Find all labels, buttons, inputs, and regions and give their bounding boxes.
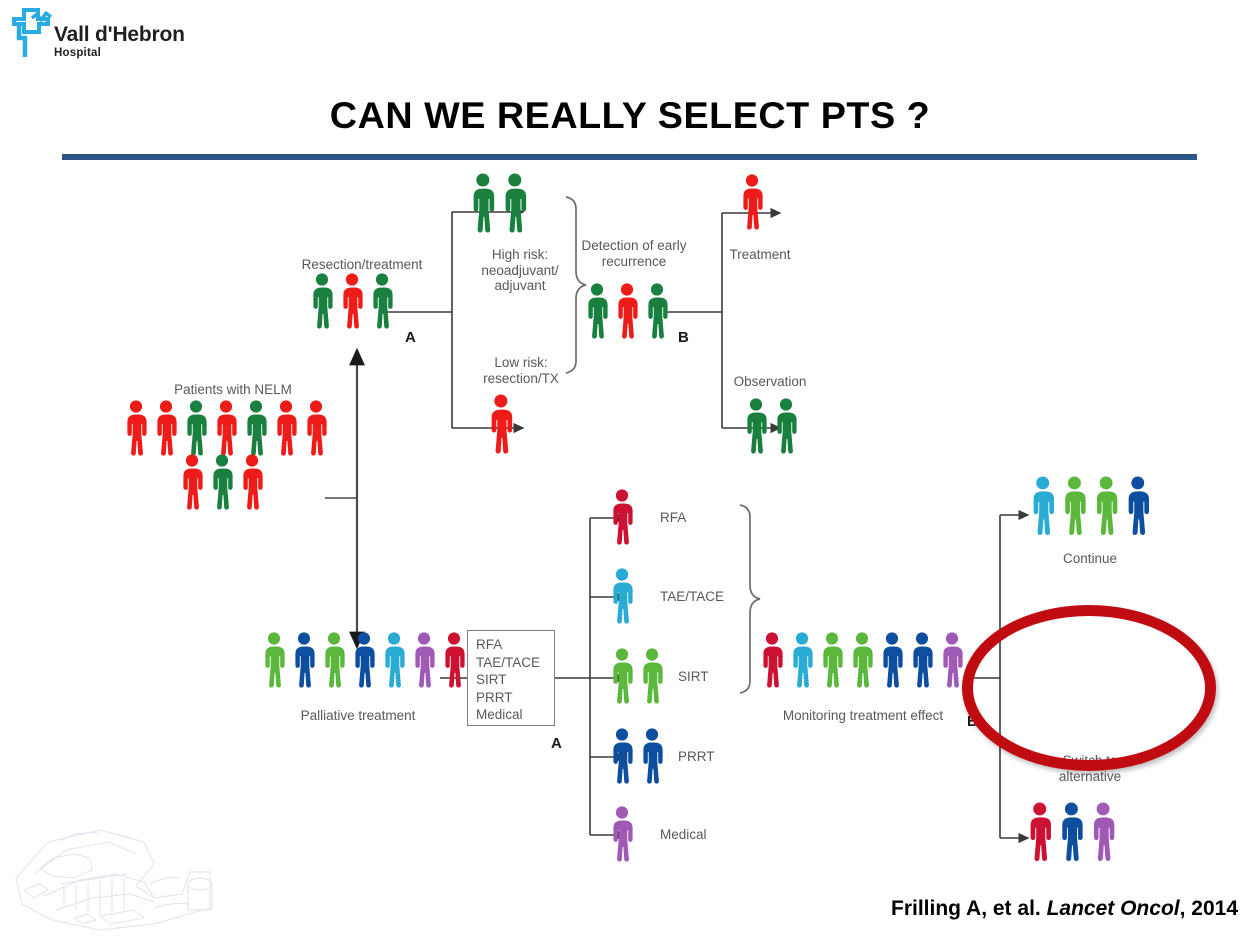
hospital-cross-pulse-icon bbox=[8, 8, 52, 60]
option-prrt: PRRT bbox=[476, 689, 554, 707]
branch-label-a-upper: A bbox=[405, 329, 416, 346]
person-pictogram bbox=[277, 400, 296, 455]
person-pictogram bbox=[307, 400, 326, 455]
person-pictogram bbox=[1062, 802, 1082, 861]
page-title: CAN WE REALLY SELECT PTS ? bbox=[0, 95, 1260, 137]
person-pictogram bbox=[247, 400, 266, 455]
person-pictogram bbox=[343, 273, 362, 328]
person-pictogram bbox=[823, 632, 842, 687]
label-tae-tace: TAE/TACE bbox=[660, 589, 750, 605]
label-detection-recurrence: Detection of early recurrence bbox=[559, 238, 709, 269]
label-sirt: SIRT bbox=[678, 669, 748, 685]
person-pictogram bbox=[1065, 476, 1085, 535]
branch-label-a-lower: A bbox=[551, 735, 562, 752]
person-pictogram bbox=[127, 400, 146, 455]
person-pictogram bbox=[325, 632, 344, 687]
label-rfa: RFA bbox=[660, 510, 730, 526]
person-pictogram bbox=[183, 454, 202, 509]
group-prrt bbox=[613, 728, 662, 783]
person-pictogram bbox=[157, 400, 176, 455]
person-pictogram bbox=[355, 632, 374, 687]
option-tae-tace: TAE/TACE bbox=[476, 654, 554, 672]
logo-sub-name: Hospital bbox=[54, 48, 101, 60]
person-pictogram bbox=[187, 400, 206, 455]
group-medical bbox=[613, 806, 632, 861]
person-pictogram bbox=[763, 632, 782, 687]
label-observation: Observation bbox=[705, 374, 835, 390]
group-rfa bbox=[613, 489, 632, 544]
group-continue bbox=[1034, 476, 1149, 535]
person-pictogram bbox=[265, 632, 284, 687]
highlight-ellipse-continue bbox=[962, 605, 1216, 771]
person-pictogram bbox=[1034, 476, 1054, 535]
label-continue: Continue bbox=[1020, 551, 1160, 567]
person-pictogram bbox=[643, 728, 662, 783]
flow-diagram: Patients with NELM Resection/treatment H… bbox=[0, 165, 1260, 885]
group-high-risk bbox=[474, 173, 527, 232]
hospital-logo: Vall d'Hebron Hospital bbox=[8, 8, 238, 68]
person-pictogram bbox=[777, 398, 796, 453]
person-pictogram bbox=[243, 454, 262, 509]
person-pictogram bbox=[445, 632, 464, 687]
treatment-options-box: RFA TAE/TACE SIRT PRRT Medical bbox=[467, 630, 555, 726]
citation-year: , 2014 bbox=[1180, 897, 1238, 920]
title-divider bbox=[62, 154, 1197, 160]
group-resection-treatment bbox=[313, 273, 392, 328]
person-pictogram bbox=[643, 648, 662, 703]
person-pictogram bbox=[747, 398, 766, 453]
label-medical: Medical bbox=[660, 827, 740, 843]
person-pictogram bbox=[613, 648, 632, 703]
person-pictogram bbox=[1129, 476, 1149, 535]
citation-journal: Lancet Oncol bbox=[1047, 897, 1180, 920]
person-pictogram bbox=[1097, 476, 1117, 535]
person-pictogram bbox=[913, 632, 932, 687]
person-pictogram bbox=[618, 283, 637, 338]
branch-label-b-upper: B bbox=[678, 329, 689, 346]
citation: Frilling A, et al. Lancet Oncol, 2014 bbox=[891, 897, 1238, 921]
group-observation bbox=[747, 398, 796, 453]
person-pictogram bbox=[613, 728, 632, 783]
person-pictogram bbox=[415, 632, 434, 687]
label-patients-with-nelm: Patients with NELM bbox=[113, 382, 353, 398]
person-pictogram bbox=[1031, 802, 1051, 861]
person-pictogram bbox=[1094, 802, 1114, 861]
option-sirt: SIRT bbox=[476, 671, 554, 689]
option-medical: Medical bbox=[476, 706, 554, 724]
group-tae-tace bbox=[613, 568, 632, 623]
group-palliative-treatment bbox=[265, 632, 464, 687]
person-pictogram bbox=[474, 173, 495, 232]
group-monitoring-treatment-effect bbox=[763, 632, 962, 687]
group-treatment bbox=[743, 174, 762, 229]
label-palliative-treatment: Palliative treatment bbox=[263, 708, 453, 724]
person-pictogram bbox=[385, 632, 404, 687]
label-monitoring-treatment-effect: Monitoring treatment effect bbox=[748, 708, 978, 724]
group-detection-of-early-recurrence bbox=[588, 283, 667, 338]
person-pictogram bbox=[853, 632, 872, 687]
person-pictogram bbox=[213, 454, 232, 509]
hospital-campus-watermark bbox=[4, 812, 226, 940]
group-patients-with-nelm bbox=[127, 400, 326, 509]
group-sirt bbox=[613, 648, 662, 703]
person-pictogram bbox=[943, 632, 962, 687]
logo-brand-name: Vall d'Hebron bbox=[54, 24, 185, 45]
person-pictogram bbox=[613, 489, 632, 544]
person-pictogram bbox=[648, 283, 667, 338]
person-pictogram bbox=[217, 400, 236, 455]
person-pictogram bbox=[295, 632, 314, 687]
label-low-risk: Low risk: resection/TX bbox=[443, 355, 599, 386]
option-rfa: RFA bbox=[476, 636, 554, 654]
person-pictogram bbox=[313, 273, 332, 328]
person-pictogram bbox=[883, 632, 902, 687]
group-switch-to-alternative bbox=[1031, 802, 1115, 861]
person-pictogram bbox=[613, 806, 632, 861]
person-pictogram bbox=[793, 632, 812, 687]
label-treatment: Treatment bbox=[700, 247, 820, 263]
person-pictogram bbox=[492, 394, 513, 453]
citation-author: Frilling A, et al. bbox=[891, 897, 1047, 920]
person-pictogram bbox=[506, 173, 527, 232]
person-pictogram bbox=[373, 273, 392, 328]
label-prrt: PRRT bbox=[678, 749, 748, 765]
person-pictogram bbox=[743, 174, 762, 229]
group-low-risk bbox=[492, 394, 513, 453]
person-pictogram bbox=[613, 568, 632, 623]
label-resection-treatment: Resection/treatment bbox=[272, 257, 452, 273]
